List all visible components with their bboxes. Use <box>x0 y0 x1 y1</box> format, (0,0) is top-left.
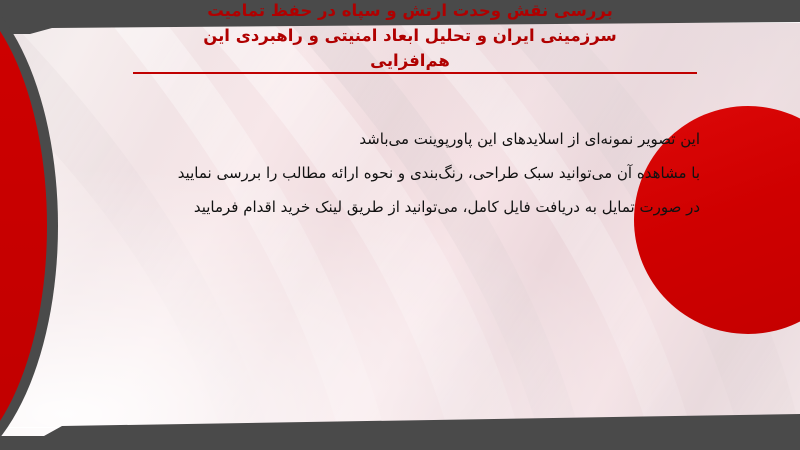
title-line-3: هم‌افزایی <box>120 48 700 73</box>
body-line-2: با مشاهده آن می‌توانید سبک طراحی، رنگ‌بن… <box>80 156 700 190</box>
slide-body-text: این تصویر نمونه‌ای از اسلایدهای این پاور… <box>80 122 700 224</box>
presentation-slide: بررسی نقش وحدت ارتش و سپاه در حفظ تمامیت… <box>0 0 800 450</box>
slide-title: بررسی نقش وحدت ارتش و سپاه در حفظ تمامیت… <box>120 0 700 73</box>
title-underline-rule <box>133 72 697 74</box>
body-line-1: این تصویر نمونه‌ای از اسلایدهای این پاور… <box>80 122 700 156</box>
title-line-2: سرزمینی ایران و تحلیل ابعاد امنیتی و راه… <box>120 23 700 48</box>
title-line-1: بررسی نقش وحدت ارتش و سپاه در حفظ تمامیت <box>120 0 700 23</box>
body-line-3: در صورت تمایل به دریافت فایل کامل، می‌تو… <box>80 190 700 224</box>
left-red-ellipse-decoration <box>0 0 58 450</box>
